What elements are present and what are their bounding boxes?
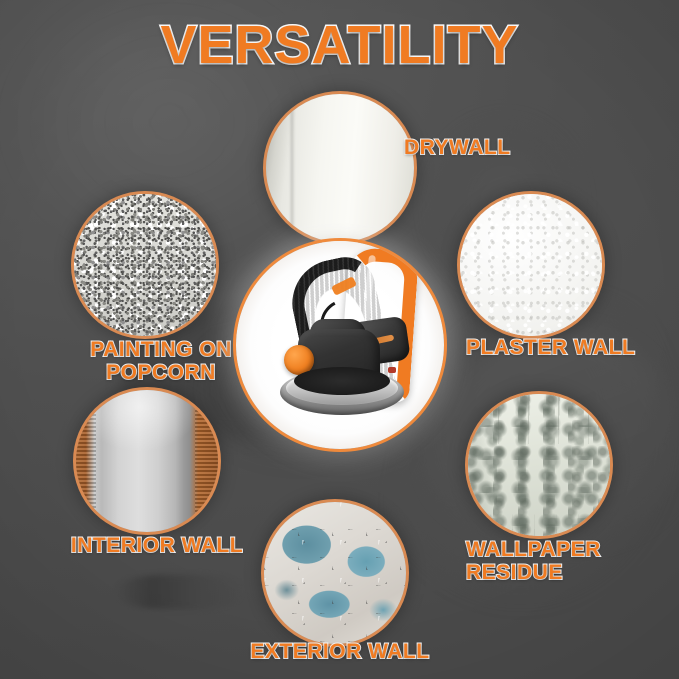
feature-label-exterior-wall: EXTERIOR WALL [230, 640, 450, 663]
feature-label-interior-wall: INTERIOR WALL [42, 534, 272, 557]
interior-wall-glow [76, 390, 218, 532]
feature-image-interior-wall [76, 390, 218, 532]
wallpaper-residue-streaks [468, 394, 610, 536]
sander-power-indicator [388, 367, 396, 373]
feature-image-painting-on-popcorn [74, 194, 216, 336]
feature-image-wallpaper-residue [468, 394, 610, 536]
drywall-texture [266, 94, 414, 242]
feature-label-wallpaper-residue: WALLPAPER RESIDUE [466, 538, 666, 584]
product-hero-image [236, 241, 444, 449]
exterior-wall-cracks [264, 502, 406, 644]
page-title: VERSATILITY [0, 18, 679, 72]
feature-image-plaster-wall [460, 194, 602, 336]
feature-label-painting-on-popcorn: PAINTING ON POPCORN [56, 338, 266, 384]
feature-image-exterior-wall [264, 502, 406, 644]
popcorn-texture [74, 194, 216, 336]
sander-pad-inner [294, 367, 390, 395]
drywall-sander-icon [236, 241, 444, 449]
feature-label-drywall: DRYWALL [404, 136, 564, 159]
feature-image-drywall [266, 94, 414, 242]
versatility-poster: VERSATILITY DRYWALL PAINTING ON POPCORN … [0, 0, 679, 679]
plaster-texture [460, 194, 602, 336]
feature-label-plaster-wall: PLASTER WALL [466, 336, 666, 359]
